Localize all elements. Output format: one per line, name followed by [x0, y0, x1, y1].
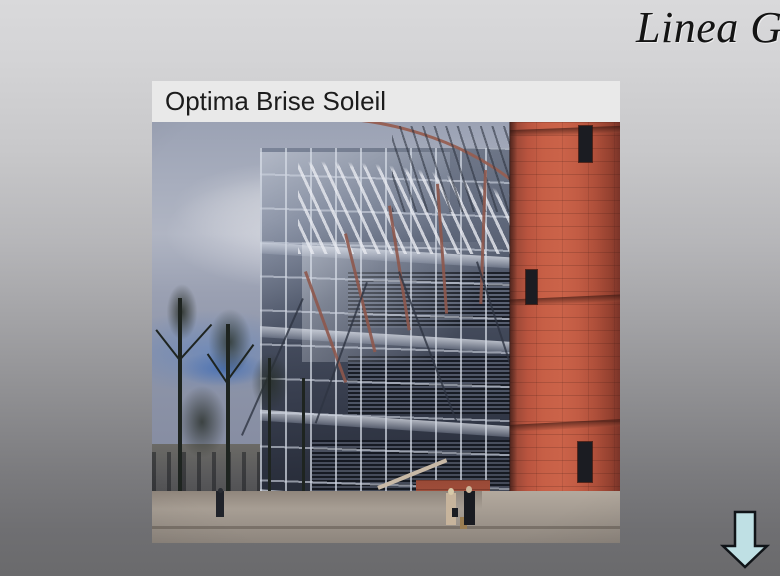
- presentation-slide: Linea G Optima Brise Soleil: [0, 0, 780, 576]
- next-slide-button[interactable]: [720, 510, 770, 570]
- content-card: Optima Brise Soleil: [152, 81, 620, 543]
- photo-title-band: Optima Brise Soleil: [152, 81, 620, 122]
- photo-vignette: [152, 122, 620, 543]
- brand-title: Linea G: [636, 2, 780, 54]
- arrow-down-icon[interactable]: [720, 510, 770, 570]
- photo-title: Optima Brise Soleil: [165, 85, 386, 118]
- building-photo: [152, 122, 620, 543]
